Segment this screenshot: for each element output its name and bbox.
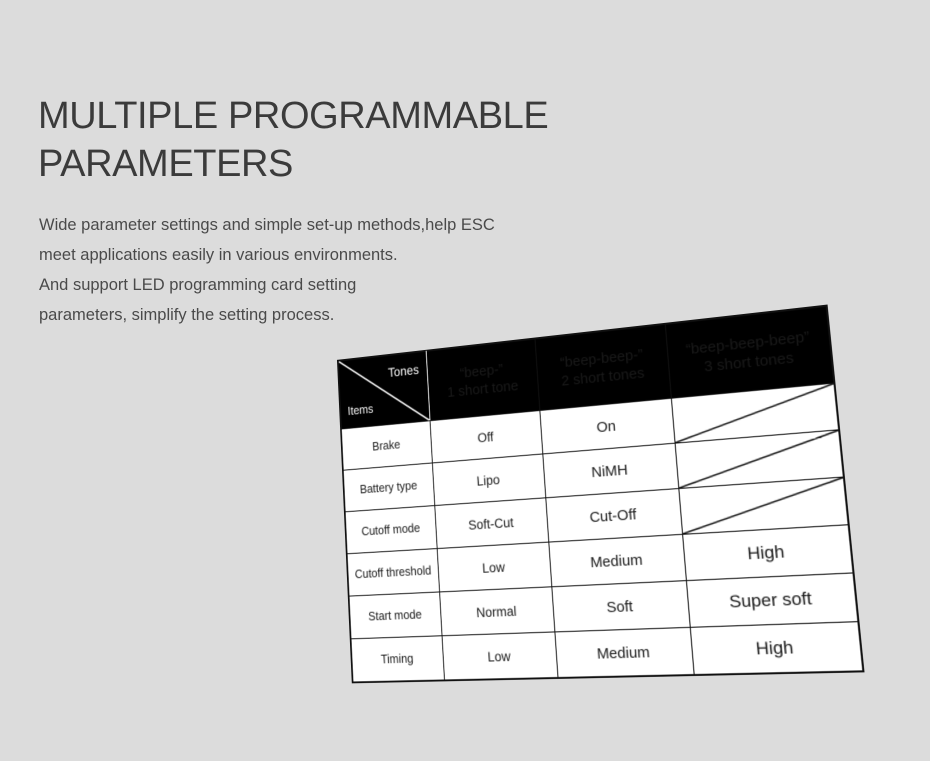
table-body: BrakeOffOnBattery typeLipoNiMHCutoff mod… <box>341 383 862 682</box>
page-root: MULTIPLE PROGRAMMABLE PARAMETERS Wide pa… <box>0 0 930 761</box>
column-header-1: “beep-” 1 short tone <box>426 339 540 421</box>
strike-through-slash-icon <box>676 430 843 488</box>
corner-tones-label: Tones <box>388 361 420 382</box>
corner-items-label: Items <box>347 401 373 421</box>
cell-value: Soft-Cut <box>435 498 549 549</box>
cell-value: Low <box>442 632 558 680</box>
cell-value: High <box>683 525 853 581</box>
row-label: Timing <box>351 636 444 682</box>
cell-value: High <box>690 622 863 675</box>
row-label: Start mode <box>349 592 442 639</box>
table-3d-stage: Tones Items “beep-” 1 short tone “beep-b… <box>0 0 930 761</box>
cell-value: Soft <box>552 581 690 632</box>
corner-cell: Tones Items <box>338 351 430 429</box>
row-label: Cutoff mode <box>345 506 437 554</box>
row-label: Brake <box>341 421 432 470</box>
cell-value: Medium <box>555 627 694 677</box>
cell-value: Normal <box>440 587 555 636</box>
cell-value: Lipo <box>432 454 545 506</box>
row-label: Cutoff threshold <box>347 549 439 597</box>
column-header-2: “beep-beep-” 2 short tones <box>535 324 671 410</box>
cell-value: Low <box>437 542 552 592</box>
row-label: Battery type <box>343 463 434 512</box>
cell-value: Super soft <box>686 573 857 627</box>
parameter-table: Tones Items “beep-” 1 short tone “beep-b… <box>338 306 864 683</box>
cell-value: Cut-Off <box>546 489 683 543</box>
parameter-table-3d: Tones Items “beep-” 1 short tone “beep-b… <box>338 306 863 683</box>
column-header-3: “beep-beep-beep” 3 short tones <box>665 306 834 398</box>
empty-cell <box>675 430 843 489</box>
cell-value: Medium <box>549 534 687 586</box>
